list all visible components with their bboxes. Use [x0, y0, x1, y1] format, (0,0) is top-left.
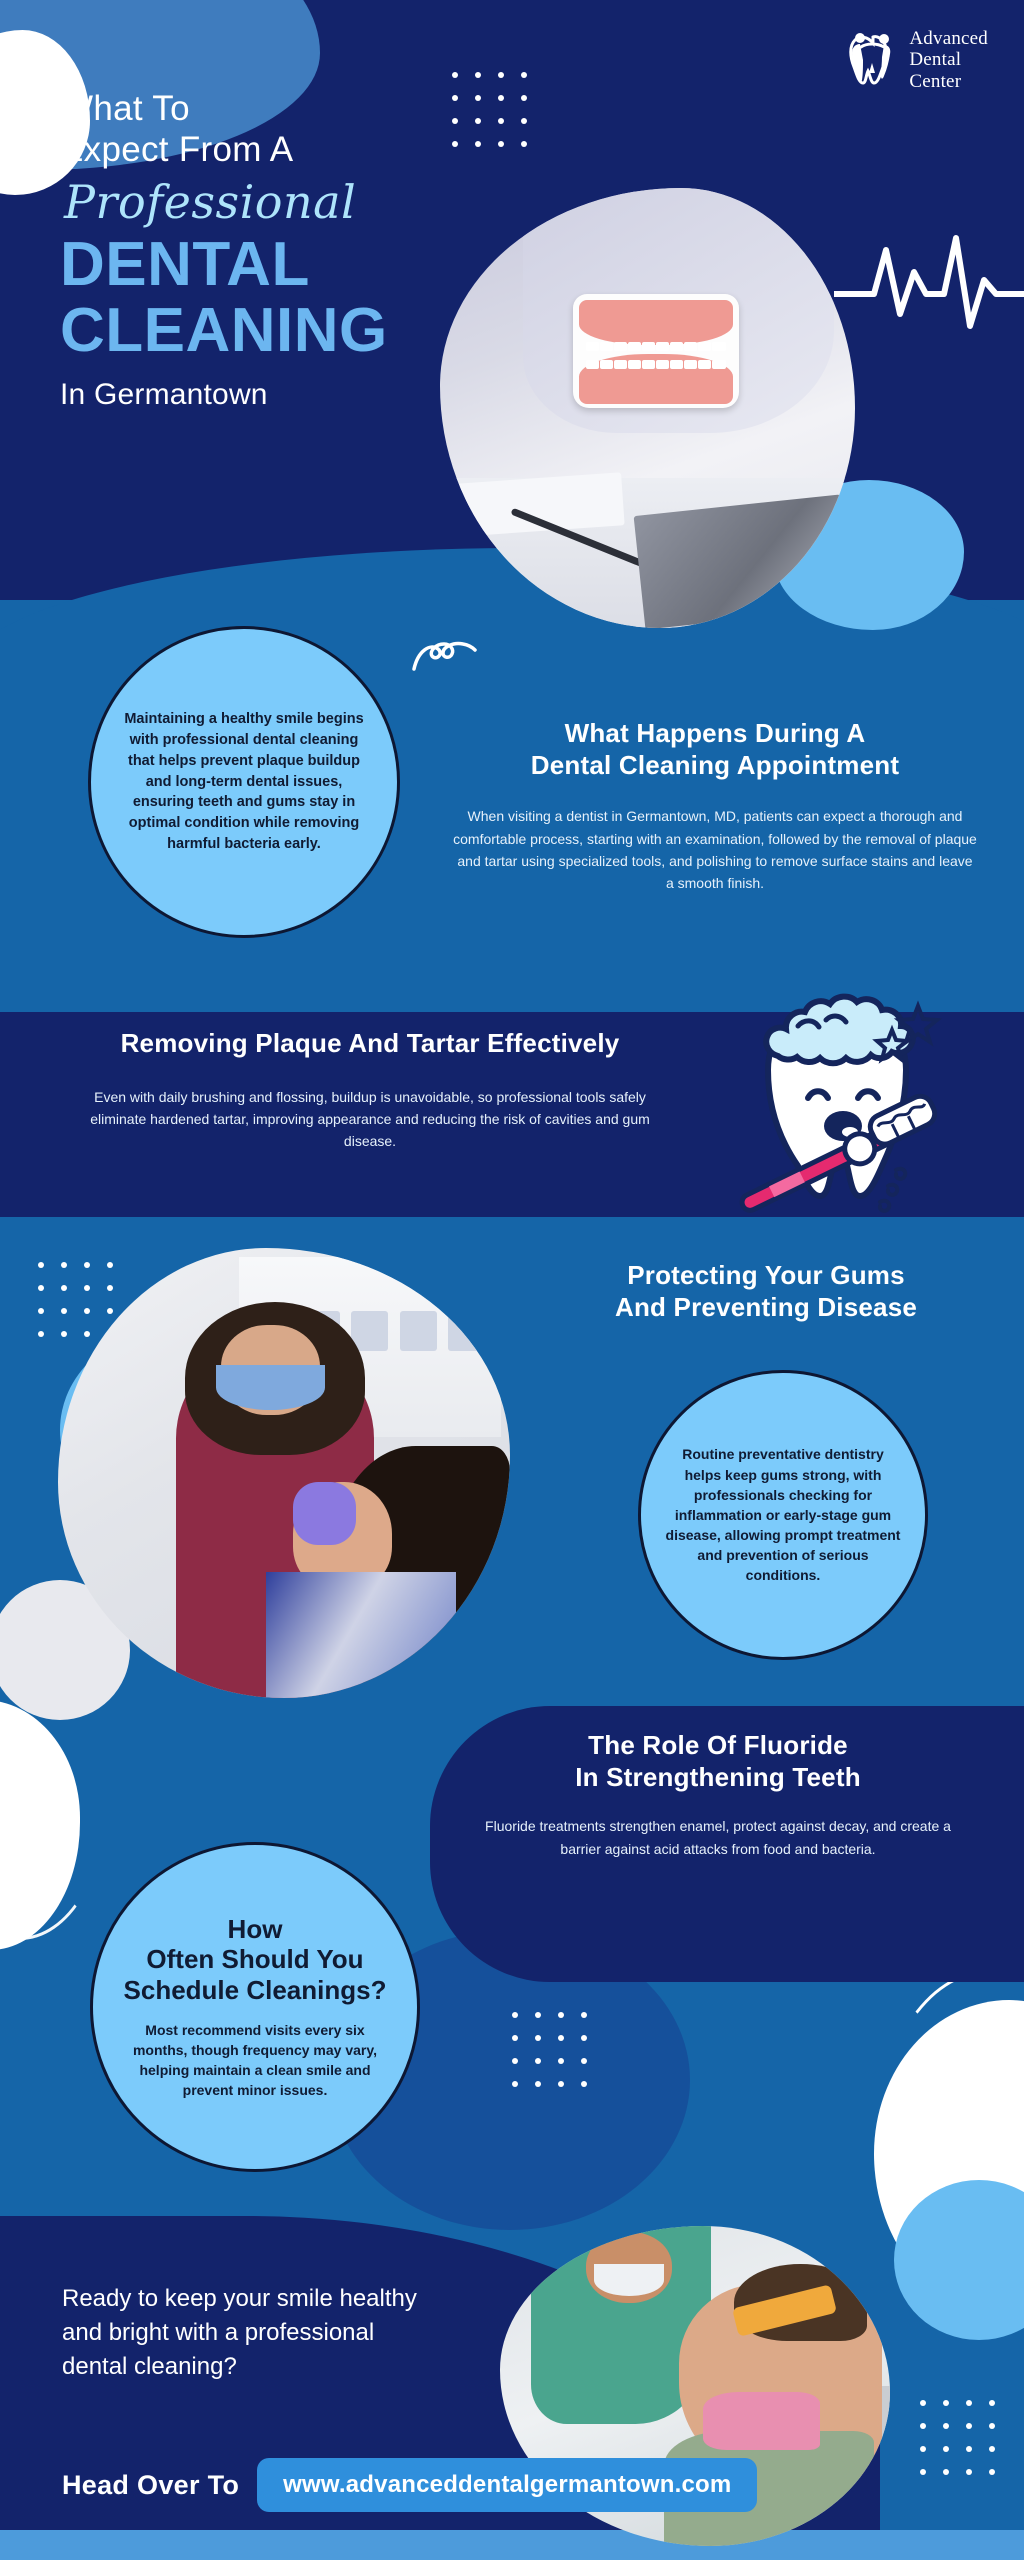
cta-row: Head Over To www.advanceddentalgermantow… [62, 2458, 757, 2512]
schedule-title-line-1: How [93, 1914, 417, 1945]
schedule-title-line-3: Schedule Cleanings? [93, 1975, 417, 2006]
heartbeat-line-icon [834, 228, 1024, 338]
fluoride-heading-line-1: The Role Of Fluoride [448, 1730, 988, 1762]
gums-heading: Protecting Your Gums And Preventing Dise… [520, 1260, 1012, 1323]
appointment-body: When visiting a dentist in Germantown, M… [430, 805, 1000, 893]
hero-line-2: Expect From A [60, 129, 490, 170]
dentist-treating-patient-image [58, 1248, 510, 1698]
gums-circle-card: Routine preventative dentistry helps kee… [638, 1370, 928, 1660]
gums-heading-line-2: And Preventing Disease [520, 1292, 1012, 1324]
schedule-body: Most recommend visits every six months, … [93, 2020, 417, 2101]
plaque-body: Even with daily brushing and flossing, b… [20, 1086, 720, 1152]
brand-name: Advanced Dental Center [909, 28, 988, 92]
schedule-title: How Often Should You Schedule Cleanings? [93, 1914, 417, 2006]
appointment-heading-line-1: What Happens During A [430, 718, 1000, 750]
hero-big-line-1: DENTAL [60, 235, 490, 296]
dental-people-tooth-icon [847, 29, 899, 91]
cta-label: Head Over To [62, 2470, 239, 2501]
hero-script-word: Professional [64, 175, 490, 229]
hero-image-denture [440, 188, 855, 628]
tooth-with-toothbrush-mascot-icon [720, 974, 960, 1224]
plaque-heading: Removing Plaque And Tartar Effectively [20, 1028, 720, 1060]
schedule-circle-card: How Often Should You Schedule Cleanings?… [90, 1842, 420, 2172]
infographic-page: Advanced Dental Center What To Expect Fr… [0, 0, 1024, 2560]
fluoride-body: Fluoride treatments strengthen enamel, p… [448, 1815, 988, 1859]
gums-heading-line-1: Protecting Your Gums [520, 1260, 1012, 1292]
schedule-title-line-2: Often Should You [93, 1944, 417, 1975]
cta-url-button[interactable]: www.advanceddentalgermantown.com [257, 2458, 757, 2512]
brand-logo[interactable]: Advanced Dental Center [847, 28, 988, 92]
dot-grid-cta [920, 2400, 995, 2475]
intro-circle-text: Maintaining a healthy smile begins with … [91, 709, 397, 855]
appointment-heading-line-2: Dental Cleaning Appointment [430, 750, 1000, 782]
curl-swirl-icon [410, 625, 500, 675]
gums-circle-text: Routine preventative dentistry helps kee… [641, 1444, 925, 1585]
hero-line-1: What To [60, 88, 490, 129]
hero-big-line-2: CLEANING [60, 301, 490, 362]
hero-heading-group: What To Expect From A Professional DENTA… [60, 88, 490, 412]
fluoride-heading: The Role Of Fluoride In Strengthening Te… [448, 1730, 988, 1793]
section-gums: Protecting Your Gums And Preventing Dise… [520, 1260, 1012, 1323]
cta-question: Ready to keep your smile healthy and bri… [62, 2282, 422, 2384]
dot-grid-low [512, 2012, 587, 2087]
section-appointment: What Happens During A Dental Cleaning Ap… [430, 718, 1000, 894]
brand-line-3: Center [909, 71, 988, 92]
cta-url-text: www.advanceddentalgermantown.com [283, 2471, 731, 2498]
brand-line-2: Dental [909, 49, 988, 70]
dot-grid-mid [38, 1262, 113, 1337]
section-fluoride: The Role Of Fluoride In Strengthening Te… [448, 1730, 988, 1860]
section-plaque: Removing Plaque And Tartar Effectively E… [20, 1028, 720, 1152]
hero-location: In Germantown [60, 378, 490, 412]
intro-circle-card: Maintaining a healthy smile begins with … [88, 626, 400, 938]
fluoride-heading-line-2: In Strengthening Teeth [448, 1762, 988, 1794]
brand-line-1: Advanced [909, 28, 988, 49]
appointment-heading: What Happens During A Dental Cleaning Ap… [430, 718, 1000, 781]
